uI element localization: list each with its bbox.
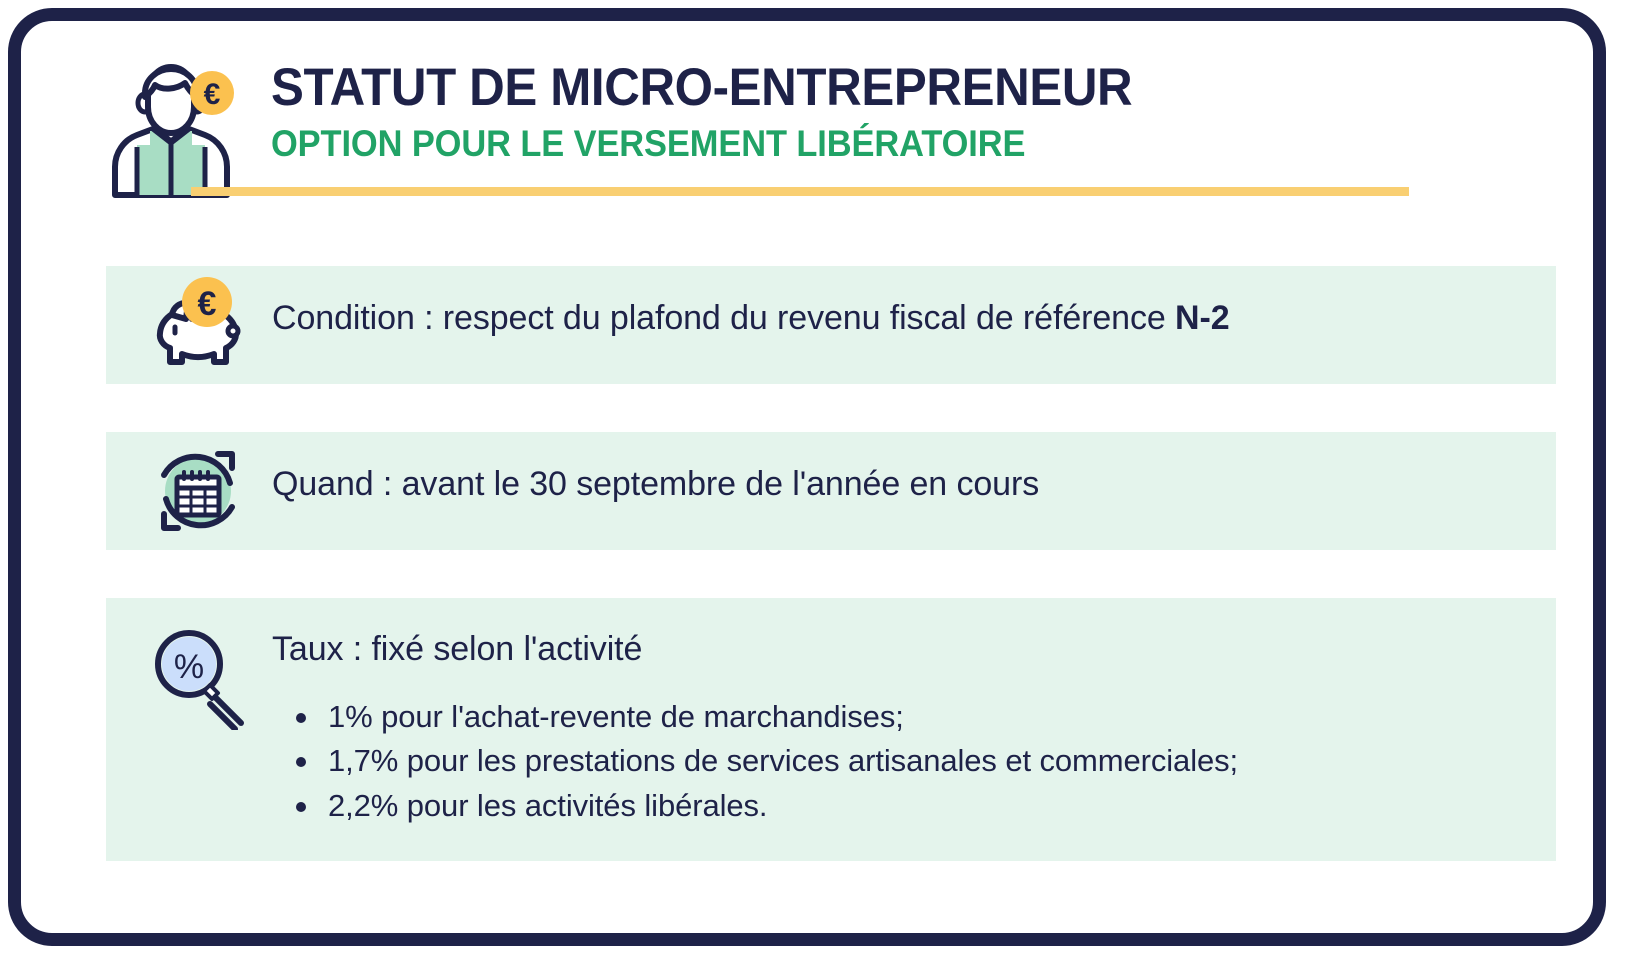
band-taux-body: Taux : fixé selon l'activité 1% pour l'a… [272, 628, 1532, 829]
calendar-refresh-icon [144, 437, 252, 545]
band-quand: Quand : avant le 30 septembre de l'année… [106, 432, 1556, 550]
businessman-euro-icon: € [101, 63, 241, 203]
band-condition-body: Condition : respect du plafond du revenu… [272, 297, 1532, 340]
svg-text:%: % [174, 648, 204, 686]
band-condition-text-prefix: Condition : respect du plafond du revenu… [272, 299, 1175, 337]
magnifier-percent-icon: % [144, 622, 252, 730]
band-condition-text: Condition : respect du plafond du revenu… [272, 297, 1532, 340]
band-quand-body: Quand : avant le 30 septembre de l'année… [272, 463, 1532, 506]
list-item: 1% pour l'achat-revente de marchandises; [272, 695, 1532, 740]
header: € STATUT DE MICRO-ENTREPRENEUR OPTION PO… [101, 49, 1553, 209]
band-taux-heading: Taux : fixé selon l'activité [272, 628, 1532, 671]
svg-text:€: € [204, 78, 221, 111]
band-quand-text: Quand : avant le 30 septembre de l'année… [272, 463, 1532, 506]
band-condition-text-strong: N-2 [1175, 299, 1230, 337]
page-title: STATUT DE MICRO-ENTREPRENEUR [271, 59, 1463, 116]
list-item: 2,2% pour les activités libérales. [272, 784, 1532, 829]
list-item: 1,7% pour les prestations de services ar… [272, 739, 1532, 784]
infographic-card: € STATUT DE MICRO-ENTREPRENEUR OPTION PO… [8, 8, 1606, 946]
svg-text:€: € [198, 285, 217, 323]
rate-list: 1% pour l'achat-revente de marchandises;… [272, 695, 1532, 830]
header-text: STATUT DE MICRO-ENTREPRENEUR OPTION POUR… [271, 59, 1553, 167]
page-subtitle: OPTION POUR LE VERSEMENT LIBÉRATOIRE [271, 122, 1463, 166]
band-taux: % Taux : fixé selon l'activité 1% pour l… [106, 598, 1556, 861]
piggy-bank-euro-icon: € [144, 271, 252, 379]
band-condition: € Condition : respect du plafond du reve… [106, 266, 1556, 384]
title-underline-rule [191, 187, 1409, 196]
